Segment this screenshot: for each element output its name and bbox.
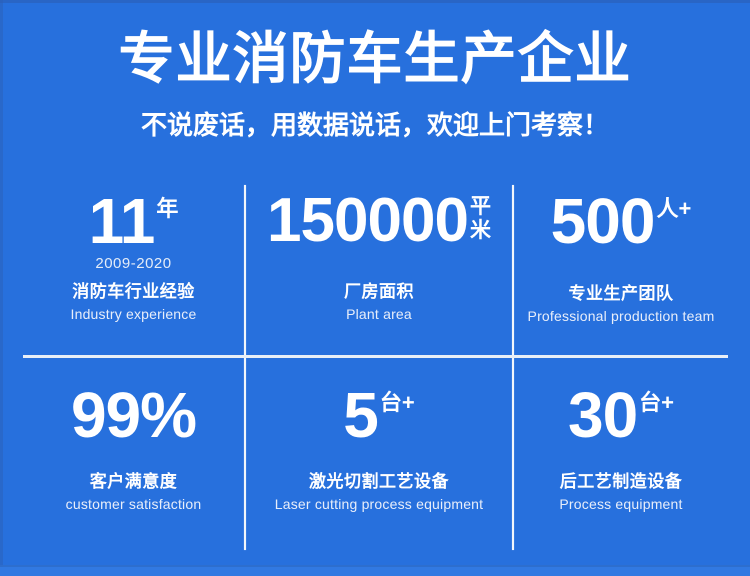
- stat-cell-process-equipment: 30 台+ 后工艺制造设备 Process equipment: [514, 381, 728, 551]
- stat-caption-en: customer satisfaction: [23, 496, 244, 512]
- stat-number: 150000: [267, 193, 468, 249]
- stat-caption-cn: 激光切割工艺设备: [247, 467, 511, 492]
- header: 专业消防车生产企业 不说废话，用数据说话，欢迎上门考察！: [0, 0, 750, 142]
- stat-caption-cn: 专业生产团队: [514, 279, 728, 304]
- page-subtitle: 不说废话，用数据说话，欢迎上门考察！: [0, 105, 750, 142]
- stat-value-row: 99%: [23, 381, 244, 445]
- stat-unit: 台+: [380, 391, 415, 414]
- stats-row: 99% 客户满意度 customer satisfaction 5 台+ 激光切…: [23, 381, 728, 551]
- stats-grid: 11 年 2009-2020 消防车行业经验 Industry experien…: [23, 185, 728, 550]
- stat-cell-production-team: 500 人+ 专业生产团队 Professional production te…: [514, 185, 728, 355]
- page-title: 专业消防车生产企业: [0, 30, 750, 89]
- stat-value-row: 30 台+: [514, 381, 728, 445]
- bottom-band: [0, 567, 750, 576]
- stat-caption-en: Plant area: [247, 306, 511, 322]
- stat-value-row: 150000 平 米: [247, 185, 511, 249]
- stat-unit-char-2: 米: [470, 219, 491, 243]
- stat-unit: 年: [156, 197, 178, 220]
- promo-banner: 专业消防车生产企业 不说废话，用数据说话，欢迎上门考察！ 11 年 2009-2…: [0, 0, 750, 576]
- stat-number: 99%: [71, 387, 196, 445]
- stat-caption-en: Laser cutting process equipment: [247, 496, 511, 512]
- stat-number: 30: [568, 387, 637, 445]
- stat-caption-cn: 后工艺制造设备: [514, 467, 728, 492]
- stat-value-row: 500 人+: [514, 185, 728, 251]
- stat-unit: 台+: [639, 391, 674, 414]
- stat-cell-laser-cutting-equipment: 5 台+ 激光切割工艺设备 Laser cutting process equi…: [247, 381, 511, 551]
- stat-value-row: 11 年: [23, 185, 244, 251]
- stat-number: 5: [343, 387, 378, 445]
- stat-caption-cn: 厂房面积: [247, 277, 511, 302]
- stat-number: 11: [89, 193, 155, 251]
- horizontal-divider: [23, 355, 728, 358]
- stat-cell-customer-satisfaction: 99% 客户满意度 customer satisfaction: [23, 381, 244, 551]
- stat-cell-industry-experience: 11 年 2009-2020 消防车行业经验 Industry experien…: [23, 185, 244, 355]
- stat-number: 500: [551, 193, 655, 251]
- stat-caption-en: Process equipment: [514, 496, 728, 512]
- stat-cell-plant-area: 150000 平 米 厂房面积 Plant area: [247, 185, 511, 355]
- stat-unit-char-1: 平: [470, 195, 491, 219]
- stat-value-row: 5 台+: [247, 381, 511, 445]
- stat-caption-cn: 客户满意度: [23, 467, 244, 492]
- stat-unit: 人+: [656, 197, 691, 220]
- stat-unit: 平 米: [470, 195, 491, 242]
- stat-caption-cn: 消防车行业经验: [23, 277, 244, 302]
- stats-row: 11 年 2009-2020 消防车行业经验 Industry experien…: [23, 185, 728, 355]
- stat-caption-en: Professional production team: [514, 308, 728, 324]
- stat-range: 2009-2020: [23, 255, 244, 272]
- stat-caption-en: Industry experience: [23, 306, 244, 322]
